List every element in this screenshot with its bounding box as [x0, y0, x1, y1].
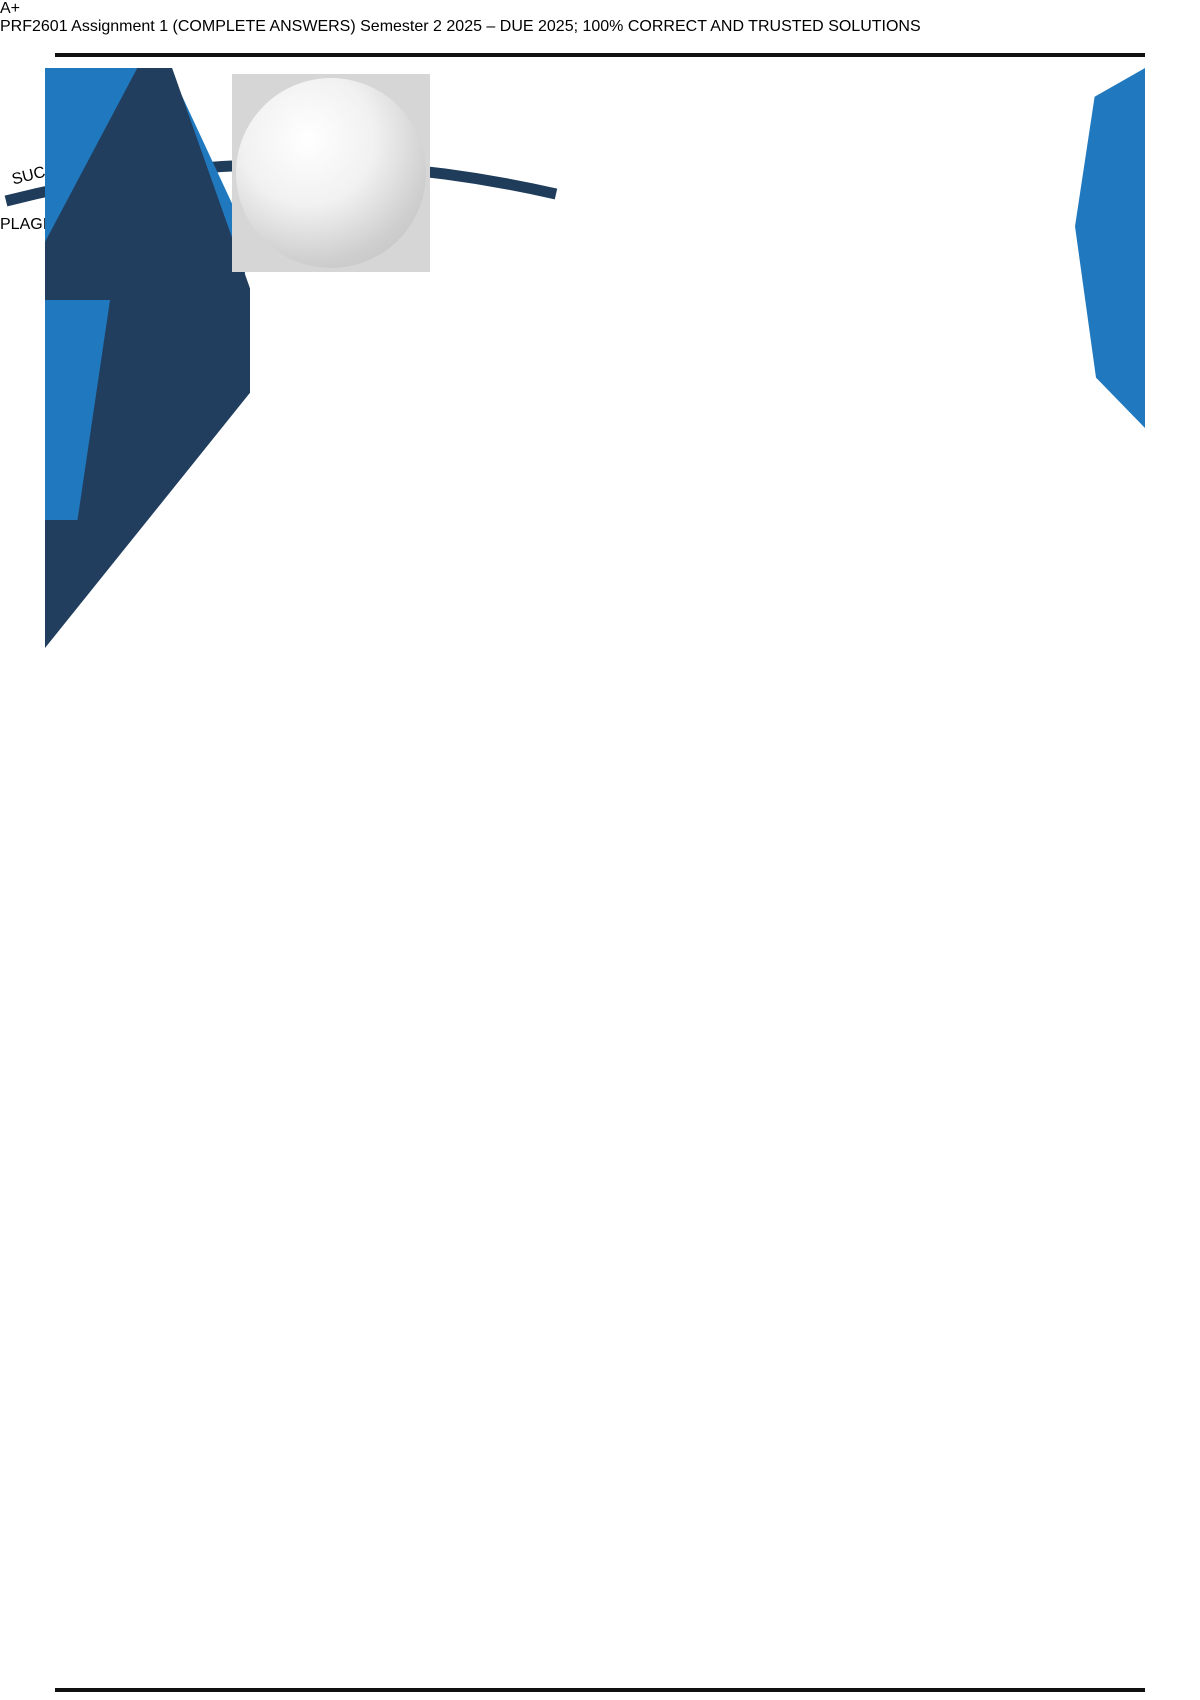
title-line-5: SOLUTIONS	[828, 18, 920, 35]
satisfaction-guarantee-badge: GUARANTEE GUARANTEE 100% SATISFACTION	[236, 78, 426, 318]
document-page: GUARANTEE GUARANTEE 100% SATISFACTION A+…	[0, 0, 1200, 1700]
page-title: PRF2601 Assignment 1 (COMPLETE ANSWERS) …	[0, 18, 1200, 36]
title-line-3: 2 2025 – DUE 2025; 100%	[433, 18, 623, 35]
a-plus-grade-badge: A+	[0, 0, 1200, 18]
title-line-1: PRF2601 Assignment 1	[0, 18, 168, 35]
bottom-divider-rule	[55, 1688, 1145, 1692]
title-line-2: (COMPLETE ANSWERS) Semester	[173, 18, 429, 35]
title-line-4: CORRECT AND TRUSTED	[628, 18, 824, 35]
top-divider-rule	[55, 53, 1145, 57]
badge-disc-icon	[236, 78, 426, 268]
grade-text: A+	[0, 0, 1200, 18]
